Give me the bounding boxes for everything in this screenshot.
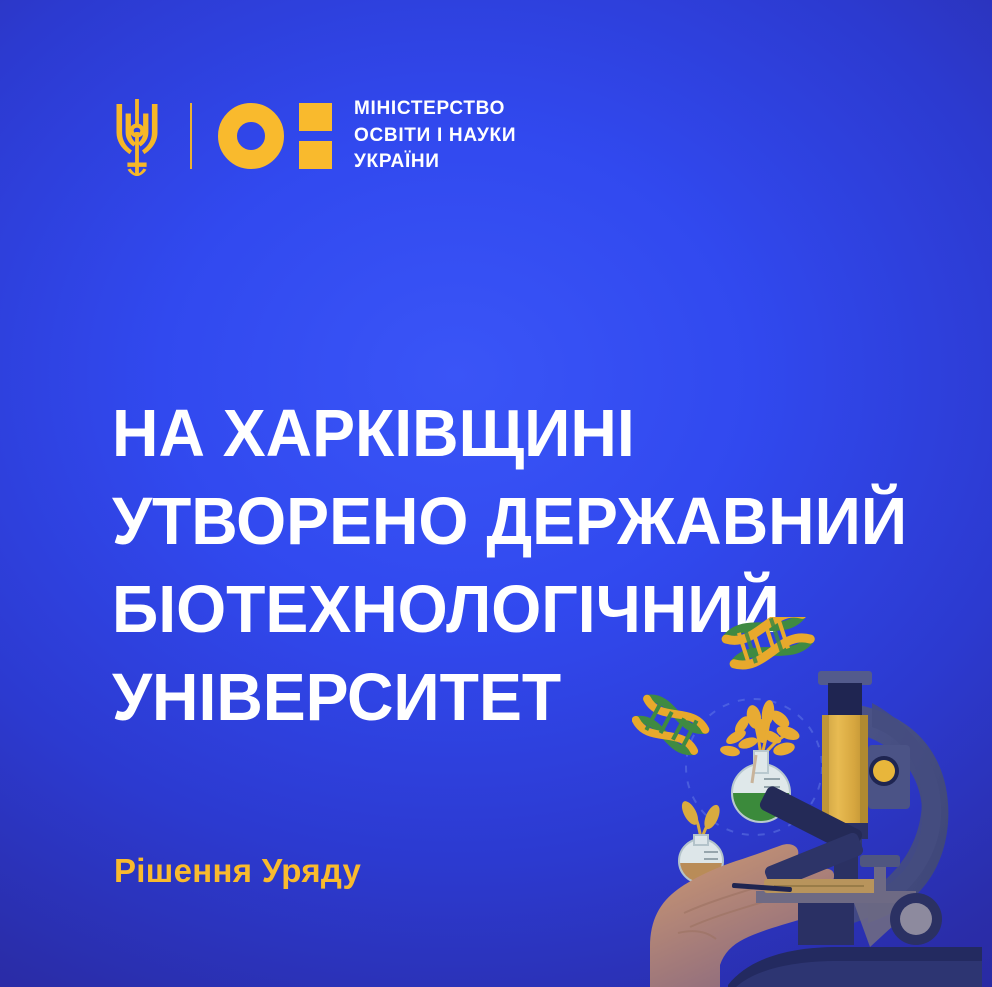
- open-hand-icon: [650, 844, 839, 987]
- headline-line-3: БІОТЕХНОЛОГІЧНИЙ: [112, 566, 928, 654]
- mark-circle-icon: [218, 103, 284, 169]
- objective-lens: [834, 853, 858, 887]
- mark-bar-bottom: [299, 141, 332, 169]
- ministry-name-line-2: ОСВІТИ І НАУКИ: [354, 123, 516, 150]
- headline-line-4: УНІВЕРСИТЕТ: [112, 654, 928, 742]
- logo-divider: [190, 103, 192, 169]
- page-title: НА ХАРКІВЩИНІ УТВОРЕНО ДЕРЖАВНИЙ БІОТЕХН…: [112, 390, 928, 742]
- microscope-stage: [756, 891, 916, 903]
- announcement-card: МІНІСТЕРСТВО ОСВІТИ І НАУКИ УКРАЇНИ НА Х…: [0, 0, 992, 987]
- ukraine-trident-emblem-icon: [110, 96, 164, 176]
- focus-knob-block: [868, 745, 910, 809]
- stage-slide: [764, 879, 878, 893]
- mon-wordmark-icon: [218, 99, 332, 173]
- mark-bars-icon: [299, 103, 332, 169]
- headline-line-2: УТВОРЕНО ДЕРЖАВНИЙ: [112, 478, 928, 566]
- focus-knob: [873, 760, 895, 782]
- microscope-base: [728, 947, 982, 987]
- base-knob: [900, 903, 932, 935]
- objective-arm-upper: [758, 784, 864, 855]
- ministry-name: МІНІСТЕРСТВО ОСВІТИ І НАУКИ УКРАЇНИ: [354, 96, 516, 177]
- coarse-adjust-knob: [860, 855, 900, 867]
- light-bulb-terrarium-with-sprout: [676, 799, 728, 893]
- ministry-name-line-1: МІНІСТЕРСТВО: [354, 96, 516, 123]
- bulb-sprout-leaves: [679, 799, 723, 832]
- subtitle-label: Рішення Уряду: [114, 852, 361, 890]
- objective-arm-lower: [763, 831, 865, 891]
- mark-bar-top: [299, 103, 332, 131]
- condenser-block: [798, 903, 854, 945]
- ministry-name-line-3: УКРАЇНИ: [354, 149, 516, 176]
- headline-line-1: НА ХАРКІВЩИНІ: [112, 390, 928, 478]
- ministry-logo: МІНІСТЕРСТВО ОСВІТИ І НАУКИ УКРАЇНИ: [110, 88, 516, 184]
